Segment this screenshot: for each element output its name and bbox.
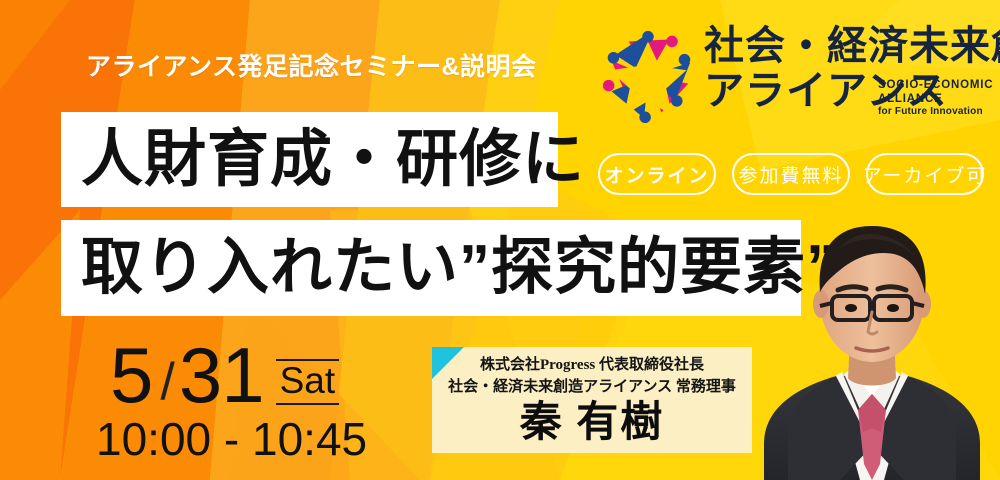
speaker-portrait bbox=[744, 196, 1000, 480]
speaker-name: 秦 有樹 bbox=[432, 399, 752, 449]
badge-online: オンライン bbox=[598, 153, 716, 195]
speaker-card: 株式会社Progress 代表取締役社長 社会・経済未来創造アライアンス 常務理… bbox=[432, 347, 752, 453]
event-kicker: アライアンス発足記念セミナー&説明会 bbox=[86, 55, 537, 80]
logo-english-line3: for Future Innovation bbox=[878, 106, 993, 118]
event-date: 5 / 31 Sat bbox=[110, 336, 339, 414]
date-separator: / bbox=[160, 356, 174, 408]
logo-english-line2: ALLIANCE bbox=[878, 93, 993, 107]
badge-free: 参加費無料 bbox=[732, 153, 850, 195]
seminar-banner: アライアンス発足記念セミナー&説明会 人財育成・研修に 取り入れたい”探究的要素… bbox=[0, 0, 1000, 480]
headline-line1: 人財育成・研修に bbox=[81, 129, 585, 191]
event-month: 5 bbox=[110, 336, 152, 414]
logo-title-english: SOCIO-ECONOMIC ALLIANCE for Future Innov… bbox=[878, 79, 993, 118]
headline-box-line1: 人財育成・研修に bbox=[61, 112, 558, 207]
badge-group: オンライン 参加費無料 アーカイブ可 bbox=[598, 153, 984, 195]
event-day-of-week: Sat bbox=[280, 362, 336, 401]
day-of-week-frame: Sat bbox=[276, 359, 340, 405]
logo-english-line1: SOCIO-ECONOMIC bbox=[878, 79, 993, 93]
event-day: 31 bbox=[179, 336, 264, 414]
badge-archive: アーカイブ可 bbox=[866, 153, 984, 195]
speaker-titles: 株式会社Progress 代表取締役社長 社会・経済未来創造アライアンス 常務理… bbox=[432, 355, 752, 399]
event-time: 10:00 - 10:45 bbox=[96, 416, 367, 462]
headline-line2: 取り入れたい”探究的要素” bbox=[81, 237, 838, 299]
headline-box-line2: 取り入れたい”探究的要素” bbox=[61, 220, 801, 316]
speaker-title-line2: 社会・経済未来創造アライアンス 常務理事 bbox=[432, 377, 752, 399]
alliance-logo: 社会・経済未来創造 アライアンス SOCIO-ECONOMIC ALLIANCE… bbox=[600, 25, 992, 125]
speaker-title-line1: 株式会社Progress 代表取締役社長 bbox=[432, 355, 752, 377]
logo-title-line1: 社会・経済未来創造 bbox=[704, 24, 1000, 68]
six-point-star-people-logo-icon bbox=[600, 28, 696, 124]
